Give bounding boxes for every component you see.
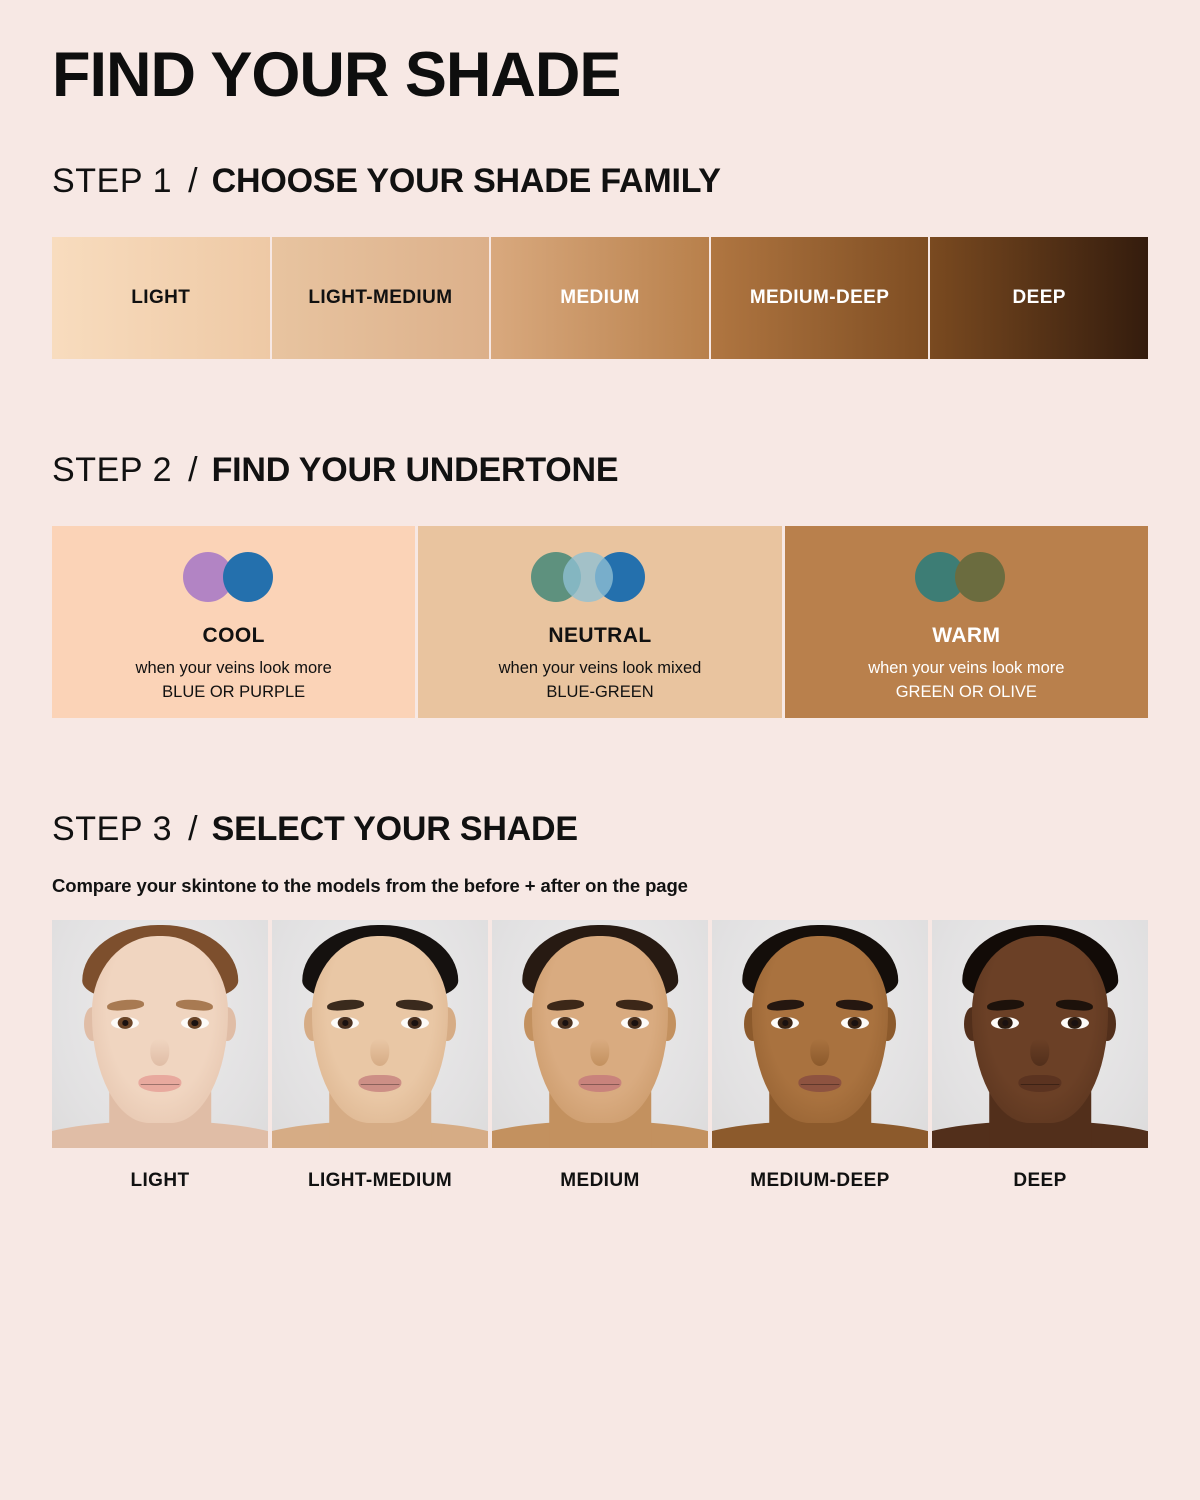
undertone-swatch-dots — [154, 552, 314, 604]
undertone-row: COOLwhen your veins look moreBLUE OR PUR… — [52, 526, 1148, 718]
portrait-illustration — [52, 920, 268, 1148]
undertone-name: COOL — [203, 624, 265, 648]
iris — [118, 1017, 133, 1029]
model-shade-column[interactable]: LIGHT — [52, 920, 268, 1192]
eye-right — [1061, 1017, 1089, 1029]
undertone-vein-colors: BLUE-GREEN — [499, 681, 702, 705]
step-2-heading: STEP 2 / FIND YOUR UNDERTONE — [52, 451, 1148, 490]
model-shade-label: LIGHT — [52, 1170, 268, 1192]
pupil — [782, 1020, 789, 1026]
step-3-heading: STEP 3 / SELECT YOUR SHADE — [52, 810, 1148, 849]
shade-family-segment[interactable]: MEDIUM-DEEP — [711, 237, 929, 359]
iris — [187, 1017, 202, 1029]
eye-right — [401, 1017, 429, 1029]
iris — [847, 1017, 862, 1029]
eye-right — [621, 1017, 649, 1029]
shade-family-segment[interactable]: LIGHT-MEDIUM — [272, 237, 490, 359]
face — [532, 936, 668, 1123]
model-portrait-photo — [492, 920, 708, 1148]
pupil — [851, 1020, 858, 1026]
portrait-illustration — [272, 920, 488, 1148]
portrait-illustration — [932, 920, 1148, 1148]
step-3-separator: / — [188, 810, 197, 849]
undertone-description: when your veins look mixedBLUE-GREEN — [499, 657, 702, 705]
undertone-card-neutral[interactable]: NEUTRALwhen your veins look mixedBLUE-GR… — [418, 526, 781, 718]
eye-right — [181, 1017, 209, 1029]
undertone-dot-icon — [223, 552, 273, 602]
lip-line — [800, 1084, 840, 1085]
model-shade-label: MEDIUM-DEEP — [712, 1170, 928, 1192]
undertone-swatch-dots — [886, 552, 1046, 604]
iris — [558, 1017, 573, 1029]
model-shade-label: MEDIUM — [492, 1170, 708, 1192]
iris — [627, 1017, 642, 1029]
step-1-label: STEP 1 — [52, 162, 172, 201]
pupil — [342, 1020, 349, 1026]
shade-family-bar: LIGHTLIGHT-MEDIUMMEDIUMMEDIUM-DEEPDEEP — [52, 237, 1148, 359]
undertone-vein-colors: BLUE OR PURPLE — [136, 681, 332, 705]
undertone-description-line: when your veins look more — [868, 659, 1064, 677]
lip-line — [360, 1084, 400, 1085]
step-3-subtitle: Compare your skintone to the models from… — [52, 875, 1148, 897]
shade-family-segment[interactable]: DEEP — [930, 237, 1148, 359]
lip-line — [1020, 1084, 1060, 1085]
model-portrait-photo — [932, 920, 1148, 1148]
model-shade-label: LIGHT-MEDIUM — [272, 1170, 488, 1192]
model-portrait-photo — [712, 920, 928, 1148]
shade-family-label: MEDIUM-DEEP — [750, 287, 890, 309]
model-shade-label: DEEP — [932, 1170, 1148, 1192]
shade-family-label: LIGHT — [131, 287, 190, 309]
portrait-illustration — [492, 920, 708, 1148]
model-shade-column[interactable]: MEDIUM-DEEP — [712, 920, 928, 1192]
pupil — [411, 1020, 418, 1026]
undertone-dot-icon — [563, 552, 613, 602]
pupil — [122, 1020, 129, 1026]
undertone-description-line: when your veins look more — [136, 659, 332, 677]
undertone-name: WARM — [932, 624, 1000, 648]
pupil — [631, 1020, 638, 1026]
undertone-description-line: when your veins look mixed — [499, 659, 702, 677]
shade-family-segment[interactable]: MEDIUM — [491, 237, 709, 359]
model-shade-column[interactable]: LIGHT-MEDIUM — [272, 920, 488, 1192]
portrait-illustration — [712, 920, 928, 1148]
pupil — [1071, 1020, 1078, 1026]
face — [312, 936, 448, 1123]
shade-family-label: MEDIUM — [560, 287, 639, 309]
lip-line — [580, 1084, 620, 1085]
step-3-label: STEP 3 — [52, 810, 172, 849]
iris — [338, 1017, 353, 1029]
undertone-card-warm[interactable]: WARMwhen your veins look moreGREEN OR OL… — [785, 526, 1148, 718]
shade-family-label: LIGHT-MEDIUM — [308, 287, 452, 309]
page-title: FIND YOUR SHADE — [52, 0, 1148, 107]
step-2-label: STEP 2 — [52, 451, 172, 490]
undertone-vein-colors: GREEN OR OLIVE — [868, 681, 1064, 705]
undertone-description: when your veins look moreGREEN OR OLIVE — [868, 657, 1064, 705]
shade-family-label: DEEP — [1013, 287, 1066, 309]
undertone-swatch-dots — [520, 552, 680, 604]
find-your-shade-page: FIND YOUR SHADE STEP 1 / CHOOSE YOUR SHA… — [0, 0, 1200, 1500]
shade-family-segment[interactable]: LIGHT — [52, 237, 270, 359]
iris — [1067, 1017, 1082, 1029]
undertone-card-cool[interactable]: COOLwhen your veins look moreBLUE OR PUR… — [52, 526, 415, 718]
pupil — [191, 1020, 198, 1026]
model-portrait-photo — [52, 920, 268, 1148]
model-shade-column[interactable]: DEEP — [932, 920, 1148, 1192]
step-3-title: SELECT YOUR SHADE — [212, 810, 578, 849]
model-shade-column[interactable]: MEDIUM — [492, 920, 708, 1192]
iris — [778, 1017, 793, 1029]
face — [972, 936, 1108, 1123]
face — [752, 936, 888, 1123]
step-2-separator: / — [188, 451, 197, 490]
undertone-name: NEUTRAL — [548, 624, 651, 648]
step-1-heading: STEP 1 / CHOOSE YOUR SHADE FAMILY — [52, 162, 1148, 201]
face — [92, 936, 228, 1123]
pupil — [562, 1020, 569, 1026]
step-1-title: CHOOSE YOUR SHADE FAMILY — [212, 162, 721, 201]
pupil — [1002, 1020, 1009, 1026]
step-1-separator: / — [188, 162, 197, 201]
iris — [407, 1017, 422, 1029]
model-portrait-photo — [272, 920, 488, 1148]
undertone-description: when your veins look moreBLUE OR PURPLE — [136, 657, 332, 705]
undertone-dot-icon — [955, 552, 1005, 602]
lip-line — [140, 1084, 180, 1085]
eye-right — [841, 1017, 869, 1029]
model-shade-row: LIGHTLIGHT-MEDIUMMEDIUMMEDIUM-DEEPDEEP — [52, 920, 1148, 1192]
step-2-title: FIND YOUR UNDERTONE — [212, 451, 619, 490]
iris — [998, 1017, 1013, 1029]
